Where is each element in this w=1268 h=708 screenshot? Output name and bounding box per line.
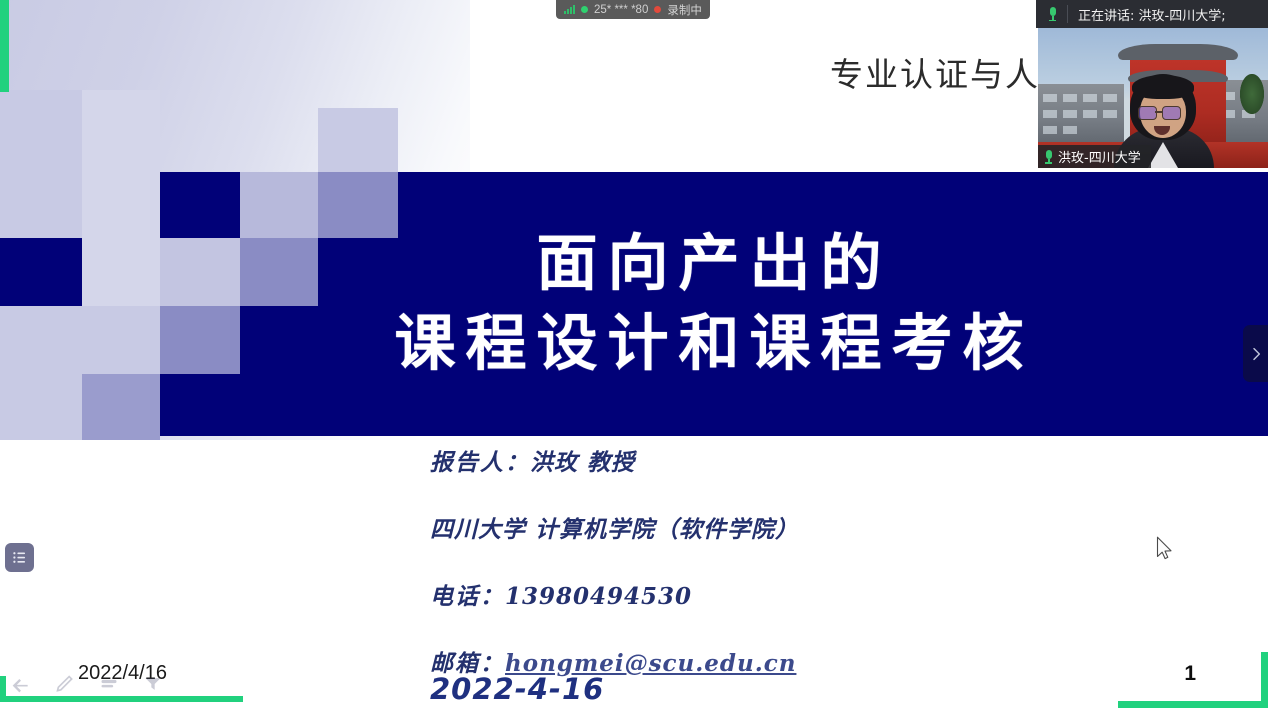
signal-bars-icon xyxy=(564,5,575,14)
green-status-dot xyxy=(581,6,588,13)
decor-square-overlap xyxy=(0,306,82,440)
decor-square-overlap xyxy=(240,238,318,306)
presenter-info-block: 报告人：洪玫 教授 四川大学 计算机学院（软件学院） 电话：1398049453… xyxy=(430,443,1190,708)
participant-name: 洪玫-四川大学 xyxy=(1058,147,1141,166)
list-menu-icon xyxy=(11,549,28,566)
speaking-banner: 正在讲话: 洪玫-四川大学; xyxy=(1036,0,1268,28)
network-text: 25* *** *80 xyxy=(594,4,648,16)
microphone-icon xyxy=(1048,7,1057,21)
tower-roof-upper xyxy=(1118,44,1238,60)
accent-bar-bottom-left-vertical xyxy=(0,676,6,702)
red-recording-dot xyxy=(654,6,661,13)
info-label: 电话： xyxy=(430,583,505,610)
decor-square xyxy=(82,238,160,306)
accent-bar-left xyxy=(0,0,9,92)
info-line-phone: 电话：13980494530 xyxy=(430,577,1190,611)
decor-square-overlap xyxy=(82,306,160,374)
decor-square-overlap xyxy=(160,238,240,306)
decor-square-overlap xyxy=(160,306,240,374)
page-number: 1 xyxy=(1184,662,1196,686)
undo-arrow-icon[interactable] xyxy=(10,674,32,694)
divider xyxy=(1067,5,1068,23)
tree xyxy=(1240,74,1264,114)
meeting-status-pill[interactable]: 25* *** *80 录制中 xyxy=(556,0,710,19)
microphone-icon xyxy=(1044,150,1053,164)
info-value: 13980494530 xyxy=(505,583,692,610)
recording-text: 录制中 xyxy=(667,2,702,18)
slide-body-date: 2022-4-16 xyxy=(430,672,604,706)
info-line-presenter: 报告人：洪玫 教授 xyxy=(430,443,1190,477)
accent-bar-right xyxy=(1261,652,1268,708)
next-slide-button[interactable] xyxy=(1243,325,1268,382)
webcam-name-badge: 洪玫-四川大学 xyxy=(1038,145,1151,168)
decor-square-navy xyxy=(0,238,82,306)
accent-bar-bottom-left xyxy=(0,696,243,702)
decor-square-overlap xyxy=(318,172,398,238)
info-label: 报告人： xyxy=(430,449,530,476)
pointer-icon[interactable] xyxy=(142,674,164,694)
info-line-affiliation: 四川大学 计算机学院（软件学院） xyxy=(430,510,1190,544)
chevron-right-icon xyxy=(1248,346,1264,362)
info-value: 洪玫 教授 xyxy=(530,449,635,476)
accent-bar-bottom-right xyxy=(1118,701,1268,708)
decor-square-overlap xyxy=(82,374,160,440)
notes-icon[interactable] xyxy=(98,674,120,694)
decor-square-overlap xyxy=(240,172,318,238)
decor-square xyxy=(318,108,398,172)
slide-list-button[interactable] xyxy=(5,543,34,572)
pen-icon[interactable] xyxy=(54,674,76,694)
speaking-label: 正在讲话: 洪玫-四川大学; xyxy=(1078,5,1226,24)
decor-square xyxy=(82,90,160,238)
annotation-toolbar[interactable] xyxy=(10,674,164,694)
info-value: 四川大学 计算机学院（软件学院） xyxy=(430,516,799,543)
screen-share-stage: 专业认证与人才 面向产出的 课程设计和课程考核 报告人：洪玫 教授 四川大学 计… xyxy=(0,0,1268,708)
webcam-thumbnail[interactable]: 洪玫-四川大学 xyxy=(1038,28,1268,168)
decor-square xyxy=(0,90,82,238)
